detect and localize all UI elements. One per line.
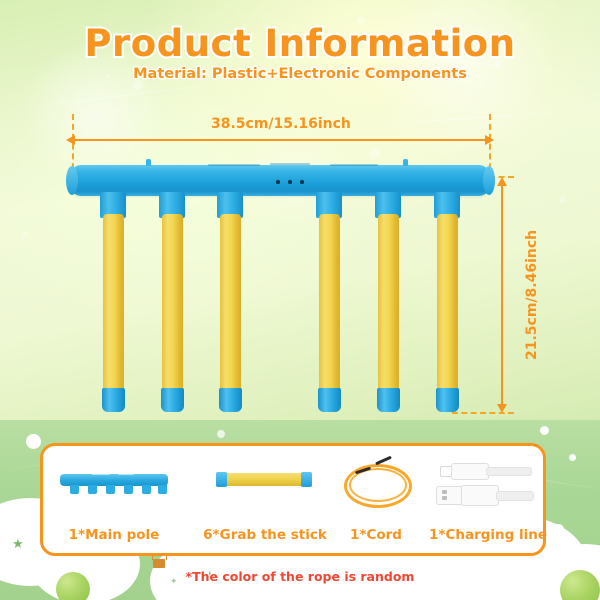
accessory-label-main-pole: 1*Main pole (54, 527, 174, 543)
width-dimension-label: 38.5cm/15.16inch (211, 116, 351, 132)
pole-nub-left (146, 159, 151, 166)
accessory-label-grab-stick: 6*Grab the stick (203, 527, 327, 543)
page-title: Product Information (0, 22, 600, 65)
height-dimension-line (501, 184, 503, 408)
accessory-label-cord: 1*Cord (340, 527, 412, 543)
accessory-label-charging-line: 1*Charging line (428, 527, 548, 543)
height-dimension-label: 21.5cm/8.46inch (524, 230, 540, 360)
footer-note: *The color of the rope is random (0, 569, 600, 584)
pole-nub-right (403, 159, 408, 166)
page-subtitle: Material: Plastic+Electronic Components (0, 66, 600, 82)
width-dimension-line (74, 139, 488, 141)
infographic-canvas: Product Information Material: Plastic+El… (0, 0, 600, 600)
main-pole-body (70, 165, 490, 196)
